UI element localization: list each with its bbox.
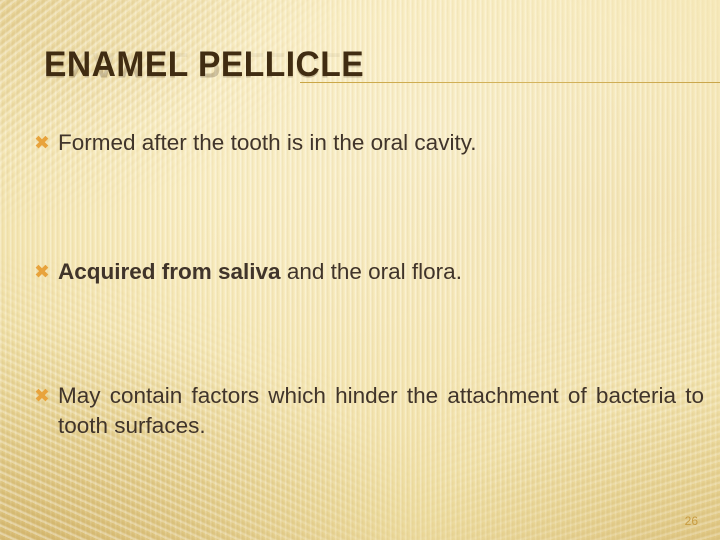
slide: Enamel Pellicle Enamel Pellicle ✖ Formed… — [0, 0, 720, 540]
title-underline-rule — [300, 82, 720, 83]
list-item-label: May contain factors which hinder the att… — [58, 381, 704, 441]
list-item: ✖ May contain factors which hinder the a… — [34, 381, 704, 441]
multiplication-x-icon: ✖ — [34, 257, 58, 287]
multiplication-x-icon: ✖ — [34, 381, 58, 411]
list-item-rest: and the oral flora. — [281, 259, 462, 284]
slide-number: 26 — [685, 514, 698, 528]
slide-title: Enamel Pellicle — [44, 44, 364, 86]
slide-title-block: Enamel Pellicle Enamel Pellicle — [44, 44, 378, 90]
multiplication-x-icon: ✖ — [34, 128, 58, 158]
list-item: ✖ Acquired from saliva and the oral flor… — [34, 257, 704, 287]
list-item-label: Formed after the tooth is in the oral ca… — [58, 128, 704, 158]
list-item-emphasis: Acquired from saliva — [58, 259, 281, 284]
list-item-label: Acquired from saliva and the oral flora. — [58, 257, 704, 287]
list-item: ✖ Formed after the tooth is in the oral … — [34, 128, 704, 158]
